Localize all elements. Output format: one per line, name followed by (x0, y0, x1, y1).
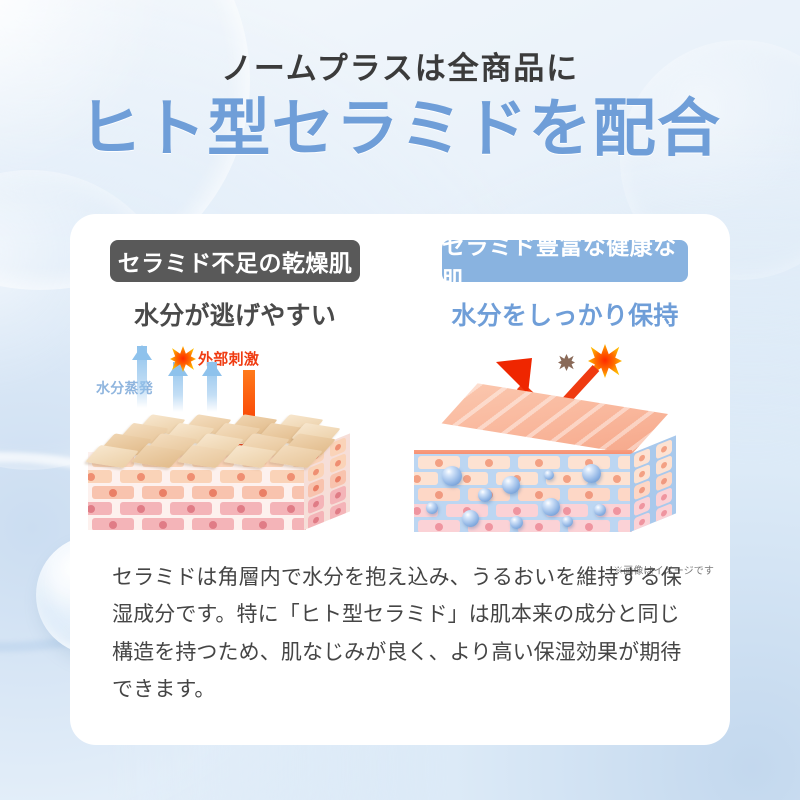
skin-cell (220, 502, 262, 515)
skin-cell (92, 518, 134, 530)
skin-cell (418, 520, 460, 532)
skin-cell (120, 502, 162, 515)
skin-cell (596, 472, 632, 485)
skin-cell (418, 488, 460, 501)
cell-row (88, 516, 306, 530)
water-droplet-icon (594, 504, 606, 516)
cell-row (88, 484, 306, 501)
dermis-layer-healthy (414, 454, 632, 532)
headline-subtitle: ノームプラスは全商品に (0, 52, 800, 86)
skin-cell (192, 518, 234, 530)
page-title: ヒト型セラミドを配合 (0, 94, 800, 165)
content-card: セラミド不足の乾燥肌 水分が逃げやすい 水分蒸発 外部刺激 セラミド豊富な健康な… (70, 214, 730, 745)
illustration-healthy-skin (400, 340, 730, 530)
skin-cell (518, 456, 560, 469)
subhead-dry-skin: 水分が逃げやすい (70, 296, 400, 332)
skin-cross-section-healthy (414, 410, 676, 532)
water-droplet-icon (542, 498, 560, 516)
comparison-panels: セラミド不足の乾燥肌 水分が逃げやすい 水分蒸発 外部刺激 セラミド豊富な健康な… (70, 240, 730, 570)
water-droplet-icon (544, 470, 554, 480)
skin-cell (120, 470, 162, 483)
water-droplet-icon (562, 516, 573, 527)
headline-block: ノームプラスは全商品に ヒト型セラミドを配合 (0, 52, 800, 165)
illustration-dry-skin: 水分蒸発 外部刺激 (70, 340, 400, 530)
skin-cell (92, 486, 134, 499)
skin-cell (270, 502, 306, 515)
skin-cell (192, 486, 234, 499)
starburst-icon (170, 346, 196, 372)
status-badge-healthy-skin: セラミド豊富な健康な肌 (442, 240, 688, 282)
skin-cell (518, 520, 560, 532)
skin-cell (414, 472, 438, 485)
water-droplet-icon (582, 464, 601, 483)
panel-dry-skin: セラミド不足の乾燥肌 水分が逃げやすい 水分蒸発 外部刺激 (70, 240, 400, 570)
cell-row (88, 468, 306, 485)
skin-cell (468, 456, 510, 469)
skin-cell (170, 502, 212, 515)
skin-cell (142, 518, 184, 530)
description-text: セラミドは角層内で水分を抱え込み、うるおいを維持する保湿成分です。特に「ヒト型セ… (112, 559, 692, 709)
status-badge-dry-skin: セラミド不足の乾燥肌 (110, 240, 360, 282)
skin-cell (88, 502, 112, 515)
skin-cell (170, 470, 212, 483)
water-droplet-icon (502, 476, 520, 494)
skin-cell (220, 470, 262, 483)
cell-row (414, 518, 632, 532)
up-arrow-icon (132, 346, 152, 408)
water-droplet-icon (510, 516, 523, 529)
peeling-flakes-group (88, 418, 350, 466)
skin-cell (88, 470, 112, 483)
water-droplet-icon (426, 502, 438, 514)
skin-cell (242, 486, 284, 499)
cell-row (414, 486, 632, 503)
water-droplet-icon (442, 466, 462, 486)
skin-cell (568, 488, 610, 501)
water-droplet-icon (478, 488, 492, 502)
skin-cell (270, 470, 306, 483)
up-arrow-icon (202, 362, 222, 412)
panel-healthy-skin: セラミド豊富な健康な肌 水分をしっかり保持 ※画像はイメージです (400, 240, 730, 570)
subhead-healthy-skin: 水分をしっかり保持 (400, 296, 730, 332)
water-droplet-icon (462, 510, 479, 527)
skin-cell (242, 518, 284, 530)
dermis-side-face-healthy (630, 435, 676, 532)
skin-cross-section-dry (88, 418, 350, 530)
skin-cell (568, 520, 610, 532)
skin-cell (142, 486, 184, 499)
cell-row (88, 500, 306, 517)
description-paragraph: セラミドは角層内で水分を抱え込み、うるおいを維持する保湿成分です。特に「ヒト型セ… (112, 559, 692, 709)
